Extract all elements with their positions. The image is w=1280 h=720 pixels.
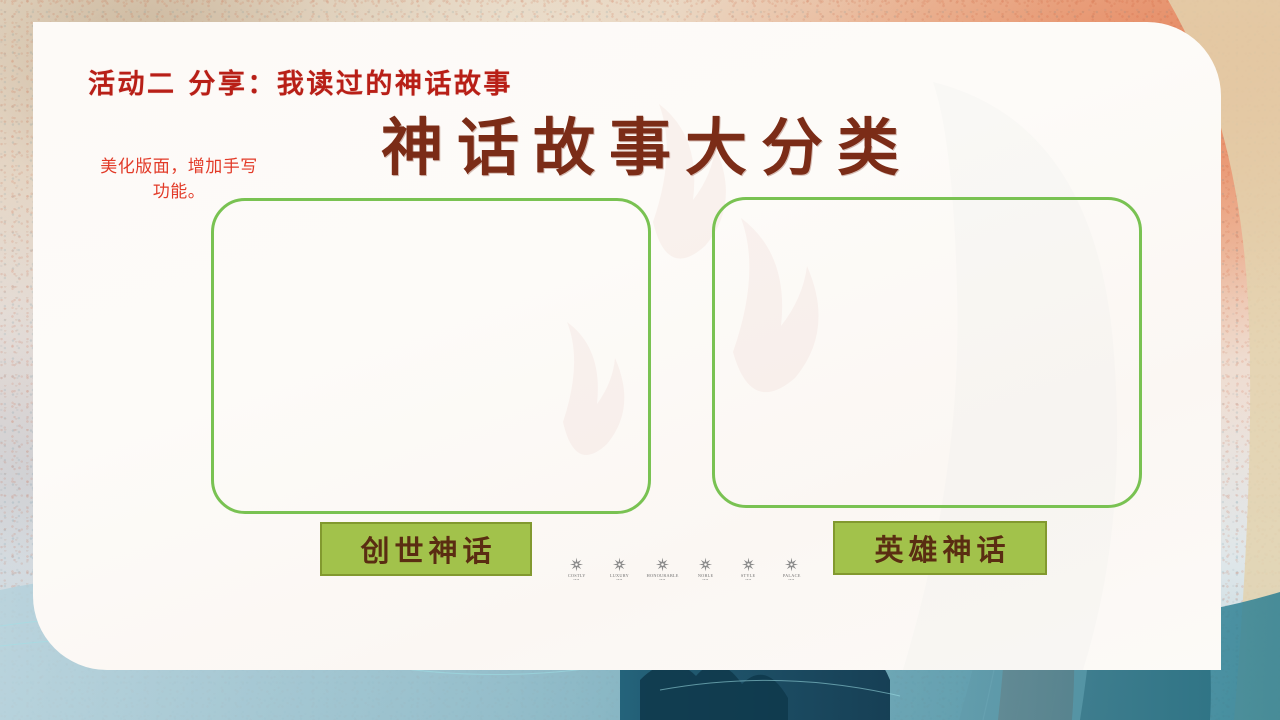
six-point-star-icon: [741, 557, 756, 572]
ornament-item: PALACE ••••: [775, 557, 808, 582]
category-label-hero-myth[interactable]: 英雄神话: [833, 521, 1047, 575]
six-point-star-icon: [569, 557, 584, 572]
creation-myth-zone[interactable]: [211, 198, 651, 514]
slide-canvas: 活动二 分享：我读过的神话故事 美化版面，增加手写功能。 神话故事大分类 创世神…: [0, 0, 1280, 720]
ornament-item: COSTLY ••••: [560, 557, 593, 582]
ornament-label: HONOURABLE: [646, 573, 678, 578]
ornament-sublabel: ••••: [573, 578, 579, 582]
ornament-strip: COSTLY •••• LUXURY •••• HONOURABLE ••••: [560, 557, 808, 582]
six-point-star-icon: [698, 557, 713, 572]
ornament-sublabel: ••••: [616, 578, 622, 582]
category-label-creation-myth[interactable]: 创世神话: [320, 522, 532, 576]
ornament-label: LUXURY: [610, 573, 629, 578]
six-point-star-icon: [784, 557, 799, 572]
ornament-label: PALACE: [783, 573, 801, 578]
hero-myth-zone[interactable]: [712, 197, 1142, 508]
six-point-star-icon: [612, 557, 627, 572]
ornament-label: STYLE: [741, 573, 756, 578]
ornament-sublabel: ••••: [702, 578, 708, 582]
ornament-sublabel: ••••: [788, 578, 794, 582]
ornament-item: LUXURY ••••: [603, 557, 636, 582]
page-title: 神话故事大分类: [0, 97, 1280, 187]
ornament-label: COSTLY: [568, 573, 586, 578]
six-point-star-icon: [655, 557, 670, 572]
ornament-label: NOBLE: [698, 573, 714, 578]
ornament-item: STYLE ••••: [732, 557, 765, 582]
ornament-item: HONOURABLE ••••: [646, 557, 679, 582]
ornament-sublabel: ••••: [745, 578, 751, 582]
ornament-sublabel: ••••: [659, 578, 665, 582]
activity-title: 活动二 分享：我读过的神话故事: [88, 62, 513, 101]
ornament-item: NOBLE ••••: [689, 557, 722, 582]
